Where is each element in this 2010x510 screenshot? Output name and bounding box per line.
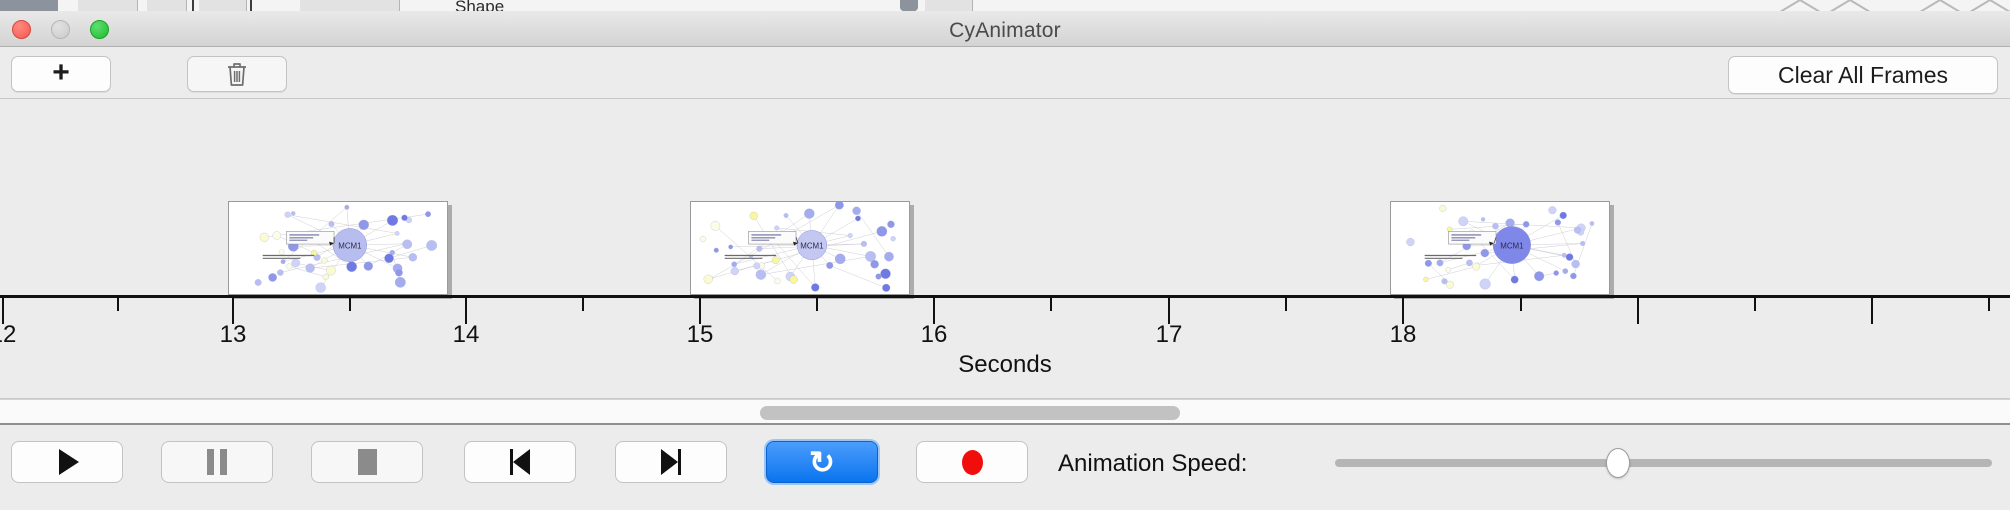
toolbar: + Clear All Frames	[0, 47, 2010, 99]
previous-frame-button[interactable]	[464, 441, 576, 483]
plus-icon: +	[52, 58, 70, 88]
ruler-tick	[349, 298, 351, 311]
skip-back-icon	[510, 449, 530, 475]
pause-button[interactable]	[161, 441, 273, 483]
stop-button[interactable]	[311, 441, 423, 483]
frame-thumbnail-2[interactable]: MCM1	[690, 201, 910, 295]
ruler-tick	[816, 298, 818, 311]
clear-all-frames-label: Clear All Frames	[1778, 62, 1948, 89]
loop-icon: ↻	[809, 447, 835, 478]
ruler-tick	[1520, 298, 1522, 311]
slider-track	[1335, 459, 1992, 467]
ruler-tick-label: 13	[220, 321, 247, 349]
ruler-tick	[1988, 298, 1990, 311]
loop-button[interactable]: ↻	[766, 441, 878, 483]
pause-icon	[207, 449, 227, 475]
ruler-tick	[1871, 298, 1873, 324]
trash-icon	[226, 61, 248, 87]
window-title: CyAnimator	[0, 19, 2010, 43]
record-button[interactable]	[916, 441, 1028, 483]
cyanimator-window: CyAnimator + Clear All Frames MCM1MCM1MC…	[0, 11, 2010, 510]
svg-text:MCM1: MCM1	[800, 242, 823, 251]
ruler-tick-label: 17	[1156, 321, 1183, 349]
frame-thumbnail-1[interactable]: MCM1	[228, 201, 448, 295]
ruler-tick	[117, 298, 119, 311]
delete-frame-button[interactable]	[187, 56, 287, 92]
skip-forward-icon	[661, 449, 681, 475]
play-button[interactable]	[11, 441, 123, 483]
window-titlebar: CyAnimator	[0, 11, 2010, 47]
ruler-tick	[1285, 298, 1287, 311]
next-frame-button[interactable]	[615, 441, 727, 483]
ruler-tick	[1050, 298, 1052, 311]
svg-text:MCM1: MCM1	[338, 242, 361, 251]
ruler-tick-label: 15	[687, 321, 714, 349]
ruler-tick	[1637, 298, 1639, 324]
ruler-tick	[1754, 298, 1756, 311]
slider-thumb[interactable]	[1606, 448, 1630, 478]
timeline-ruler[interactable]: 12131415161718	[0, 295, 2010, 355]
ruler-baseline	[0, 295, 2010, 298]
svg-text:MCM1: MCM1	[1500, 242, 1523, 251]
ruler-tick	[582, 298, 584, 311]
animation-speed-slider[interactable]	[1335, 459, 1992, 467]
clear-all-frames-button[interactable]: Clear All Frames	[1728, 56, 1998, 94]
timeline-axis-title: Seconds	[0, 351, 2010, 379]
timeline-panel[interactable]: MCM1MCM1MCM1 12131415161718 Seconds	[0, 99, 2010, 399]
ruler-tick-label: 14	[453, 321, 480, 349]
timeline-horizontal-scrollbar[interactable]	[0, 399, 2010, 425]
play-icon	[59, 449, 79, 475]
frame-thumbnail-3[interactable]: MCM1	[1390, 201, 1610, 295]
frames-layer: MCM1MCM1MCM1	[0, 99, 2010, 295]
playback-control-bar: ↻ Animation Speed:	[0, 425, 2010, 507]
add-frame-button[interactable]: +	[11, 56, 111, 92]
scrollbar-thumb[interactable]	[760, 406, 1180, 420]
stop-icon	[358, 449, 377, 475]
animation-speed-label: Animation Speed:	[1058, 450, 1247, 478]
record-icon	[962, 450, 983, 475]
ruler-tick-label: 16	[921, 321, 948, 349]
ruler-tick-label: 12	[0, 321, 16, 349]
ruler-tick-label: 18	[1390, 321, 1417, 349]
